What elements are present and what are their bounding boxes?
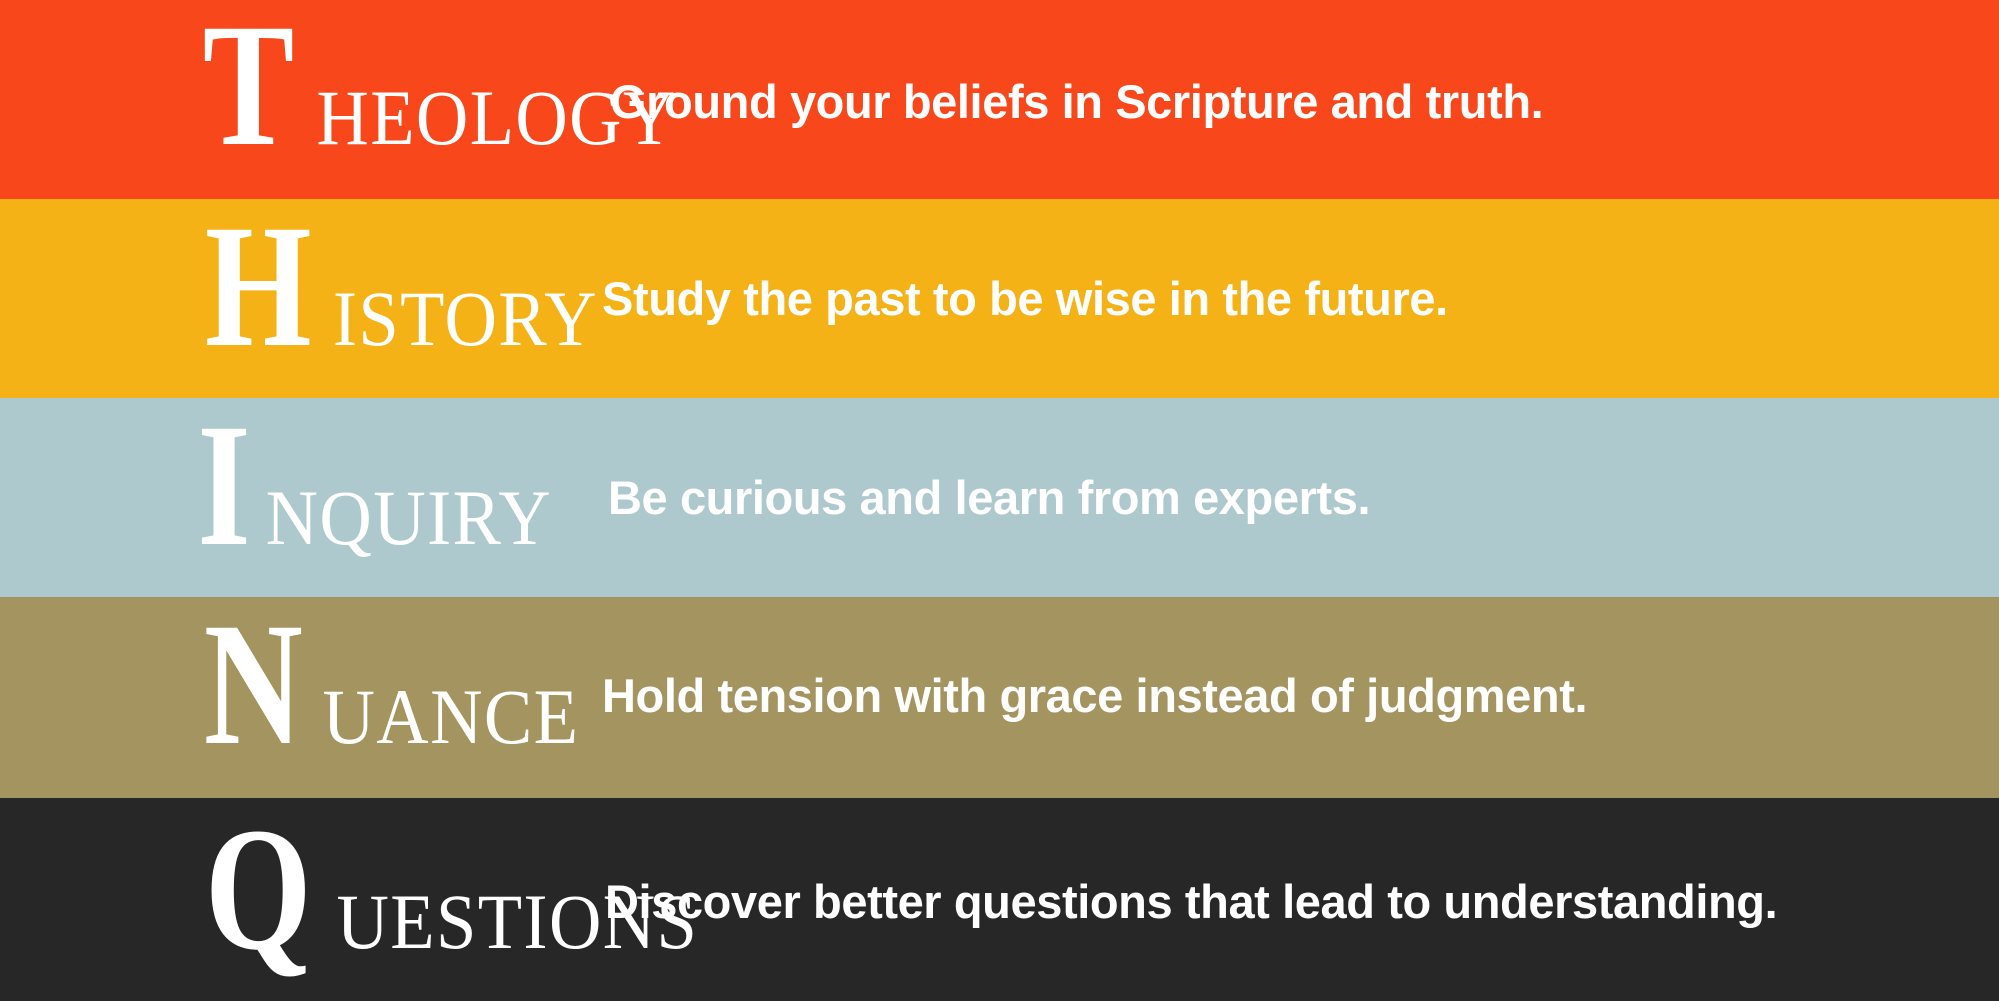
dropcap-letter: Q xyxy=(205,821,310,958)
word-remainder: NQUIRY xyxy=(261,479,551,557)
word-inquiry: I NQUIRY xyxy=(190,417,563,557)
description-inquiry: Be curious and learn from experts. xyxy=(608,474,1370,521)
band-nuance: N UANCE Hold tension with grace instead … xyxy=(0,597,1999,798)
band-inquiry: I NQUIRY Be curious and learn from exper… xyxy=(0,398,1999,597)
band-theology: T HEOLOGY Ground your beliefs in Scriptu… xyxy=(0,0,1999,199)
acronym-board: T HEOLOGY Ground your beliefs in Scriptu… xyxy=(0,0,1999,1001)
word-nuance: N UANCE xyxy=(190,616,589,756)
word-remainder: UANCE xyxy=(319,678,580,756)
dropcap-letter: T xyxy=(203,17,293,154)
dropcap-letter: I xyxy=(197,417,249,554)
band-questions: Q UESTIONS Discover better questions tha… xyxy=(0,798,1999,1001)
description-theology: Ground your beliefs in Scripture and tru… xyxy=(610,78,1543,125)
word-remainder: ISTORY xyxy=(329,280,598,358)
band-history: H ISTORY Study the past to be wise in th… xyxy=(0,199,1999,398)
dropcap-letter: H xyxy=(205,218,310,355)
description-questions: Discover better questions that lead to u… xyxy=(605,878,1777,925)
dropcap-letter: N xyxy=(204,616,302,753)
word-history: H ISTORY xyxy=(190,218,608,358)
description-nuance: Hold tension with grace instead of judgm… xyxy=(602,672,1587,719)
description-history: Study the past to be wise in the future. xyxy=(602,275,1448,322)
